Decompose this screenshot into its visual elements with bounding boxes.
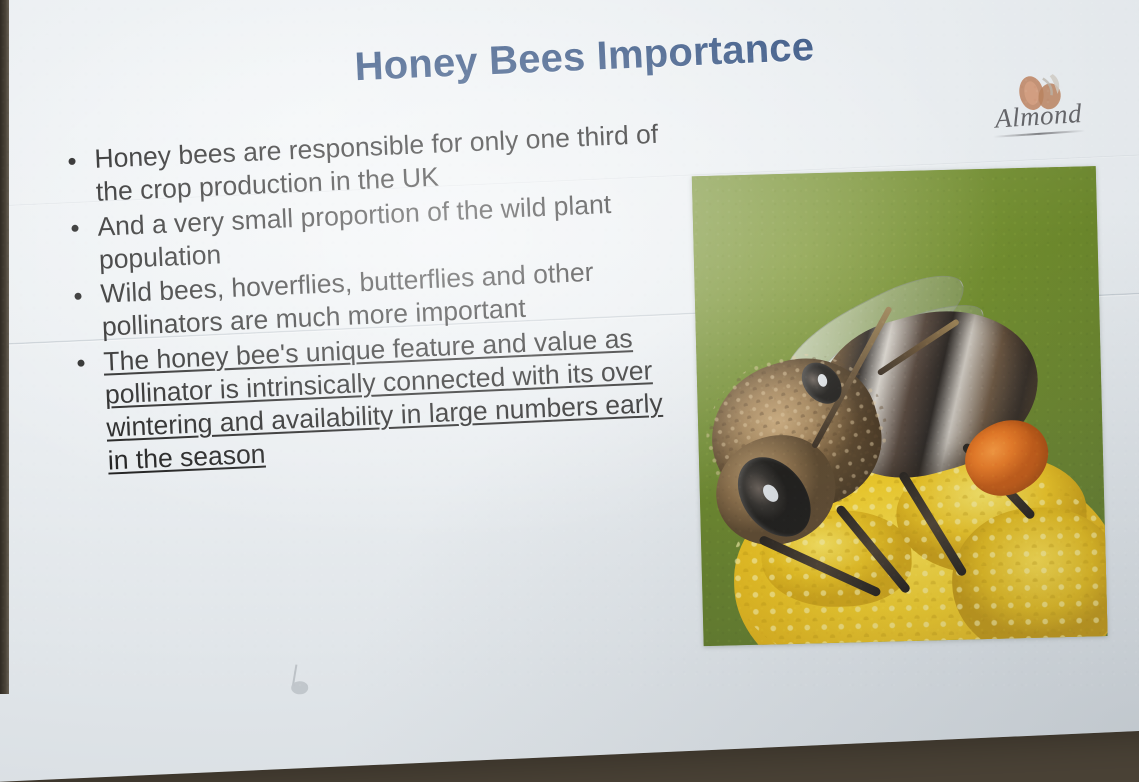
honey-bee-photo <box>692 166 1108 646</box>
bullet-dot-icon <box>68 157 75 164</box>
bee-leg <box>898 470 968 577</box>
artifact-blob <box>291 681 309 695</box>
almond-logo: Almond <box>973 68 1104 148</box>
list-item-text: The honey bee's unique feature and value… <box>103 319 691 478</box>
bullet-dot-icon <box>71 225 78 232</box>
list-item: The honey bee's unique feature and value… <box>61 319 691 480</box>
bullet-dot-icon <box>74 292 81 299</box>
slide-title: Honey Bees Importance <box>354 25 815 90</box>
presentation-slide: Honey Bees Importance Honey bees are res… <box>0 0 1139 715</box>
bullet-list: Honey bees are responsible for only one … <box>52 117 691 481</box>
projection-screen: Honey Bees Importance Honey bees are res… <box>0 0 1139 782</box>
screen-frame-left <box>0 0 9 694</box>
screen-artifact <box>281 664 316 697</box>
bullet-dot-icon <box>77 360 84 367</box>
